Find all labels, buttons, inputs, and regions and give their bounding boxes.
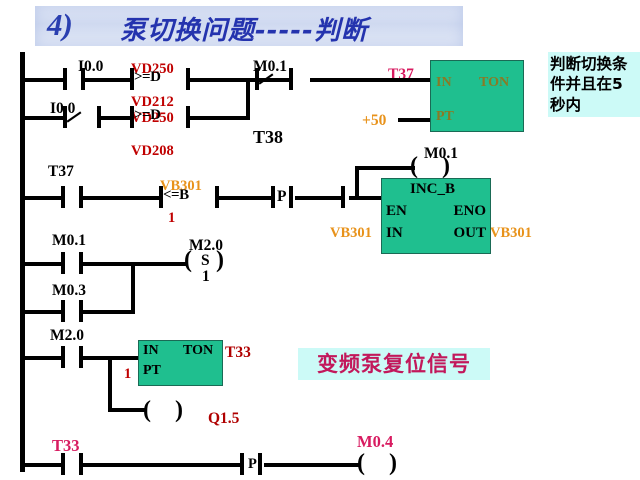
wire-r1-branch-join	[246, 78, 250, 120]
contact-p-edge-r2-right[interactable]	[341, 186, 349, 208]
wire-r1b-3	[190, 116, 250, 120]
wire-r2-2	[83, 196, 159, 200]
wire-r2-coil-branch-v	[355, 170, 359, 198]
wire-r3-to-coil	[131, 262, 188, 266]
label-p-contact-r5: P	[248, 456, 257, 473]
label-m01-no: M0.1	[52, 232, 86, 250]
contact-m03-no[interactable]	[61, 300, 83, 322]
function-block-inc-b[interactable]: INC_B EN ENO IN OUT	[381, 178, 491, 254]
wire-r1a-4	[310, 78, 430, 82]
compare3-bottom-operand: 1	[168, 210, 175, 227]
wire-r2-4	[295, 196, 341, 200]
wire-r2-3	[219, 196, 271, 200]
contact-t37-no[interactable]	[61, 186, 83, 208]
contact-m01-nc[interactable]	[255, 68, 293, 90]
incb-in-operand: VB301	[330, 226, 358, 241]
timer-block-t33[interactable]: IN TON PT	[138, 340, 223, 386]
timer-t33-number: T33	[225, 344, 251, 362]
ladder-diagram-slide: 4) 泵切换问题-----判断 I0.0 I0.0 M0.1 T38 T37 +…	[0, 0, 640, 480]
label-m03-no: M0.3	[52, 282, 86, 300]
wire-r1a-2	[85, 78, 130, 82]
coil-q15[interactable]: ( )	[143, 398, 183, 422]
wire-r3-branch-join	[131, 262, 135, 314]
wire-r4-1	[23, 356, 61, 360]
wire-r4-branch-h	[108, 408, 146, 412]
contact-t33-no[interactable]	[61, 453, 83, 475]
compare-block-vd250-vd208[interactable]: >=D	[130, 106, 190, 128]
contact-m01-no[interactable]	[61, 252, 83, 274]
wire-r5-1	[23, 463, 61, 467]
coil-m20-count: 1	[202, 268, 210, 286]
coil-m04[interactable]: ( )	[357, 451, 397, 475]
timer-pt-label: PT	[436, 109, 454, 125]
title-number: 4)	[47, 7, 73, 43]
wire-r3a-2	[83, 262, 135, 266]
title-text: 泵切换问题-----判断	[120, 10, 368, 47]
incb-out-label: OUT	[453, 225, 486, 242]
timer-t33-type-label: TON	[183, 343, 213, 359]
wire-r3a-1	[23, 262, 61, 266]
note-bottom-text: 变频泵复位信号	[298, 348, 490, 380]
timer-t33-preset: 1	[124, 366, 131, 383]
contact-p-edge-r2[interactable]	[271, 186, 293, 208]
compare3-operator: <=B	[163, 187, 189, 204]
incb-name-label: INC_B	[410, 181, 455, 198]
nc-slash-icon	[256, 69, 276, 89]
slide-title-banner: 4) 泵切换问题-----判断	[35, 6, 463, 46]
compare-block-vd250-vd212[interactable]: >=D	[130, 68, 190, 90]
incb-in-label: IN	[386, 225, 403, 242]
contact-i00-nc[interactable]	[63, 106, 101, 128]
incb-eno-label: ENO	[453, 203, 486, 220]
label-t38: T38	[253, 127, 283, 148]
contact-i00-no[interactable]	[63, 68, 85, 90]
incb-en-label: EN	[386, 203, 407, 220]
label-coil-q15: Q1.5	[208, 410, 239, 428]
timer-block-t37[interactable]: IN TON PT	[430, 60, 524, 132]
compare2-bottom-operand: VD208	[131, 143, 174, 160]
wire-r2-1	[23, 196, 61, 200]
note-right-text: 判断切换条件并且在5秒内	[548, 52, 640, 117]
compare-block-vb301[interactable]: <=B	[159, 186, 219, 208]
timer-in-label: IN	[436, 75, 452, 91]
label-coil-m04: M0.4	[357, 432, 393, 452]
nc-slash-icon	[64, 107, 84, 127]
label-preset-50: +50	[362, 112, 386, 130]
wire-r5-3	[264, 463, 360, 467]
label-t37-contact: T37	[48, 163, 74, 181]
timer-type-label: TON	[479, 75, 509, 91]
timer-t33-in-label: IN	[143, 343, 159, 359]
timer-t33-pt-label: PT	[143, 363, 161, 379]
incb-out-operand: VB301	[490, 226, 518, 241]
wire-r4-branch-v	[108, 356, 112, 412]
contact-m20-no[interactable]	[61, 346, 83, 368]
label-m20-no: M2.0	[50, 327, 84, 345]
wire-pt-feed-r1	[398, 118, 430, 122]
compare2-operator: >=D	[134, 107, 160, 124]
wire-r2-coil-branch-h	[355, 166, 415, 170]
wire-r5-2	[83, 463, 240, 467]
wire-r1a-1	[23, 78, 63, 82]
wire-r1b-2	[101, 116, 130, 120]
coil-m01[interactable]: ( )	[410, 154, 450, 178]
wire-r3b-1	[23, 310, 61, 314]
compare1-operator: >=D	[134, 69, 160, 86]
wire-r1b-1	[23, 116, 63, 120]
wire-r3b-2	[83, 310, 135, 314]
